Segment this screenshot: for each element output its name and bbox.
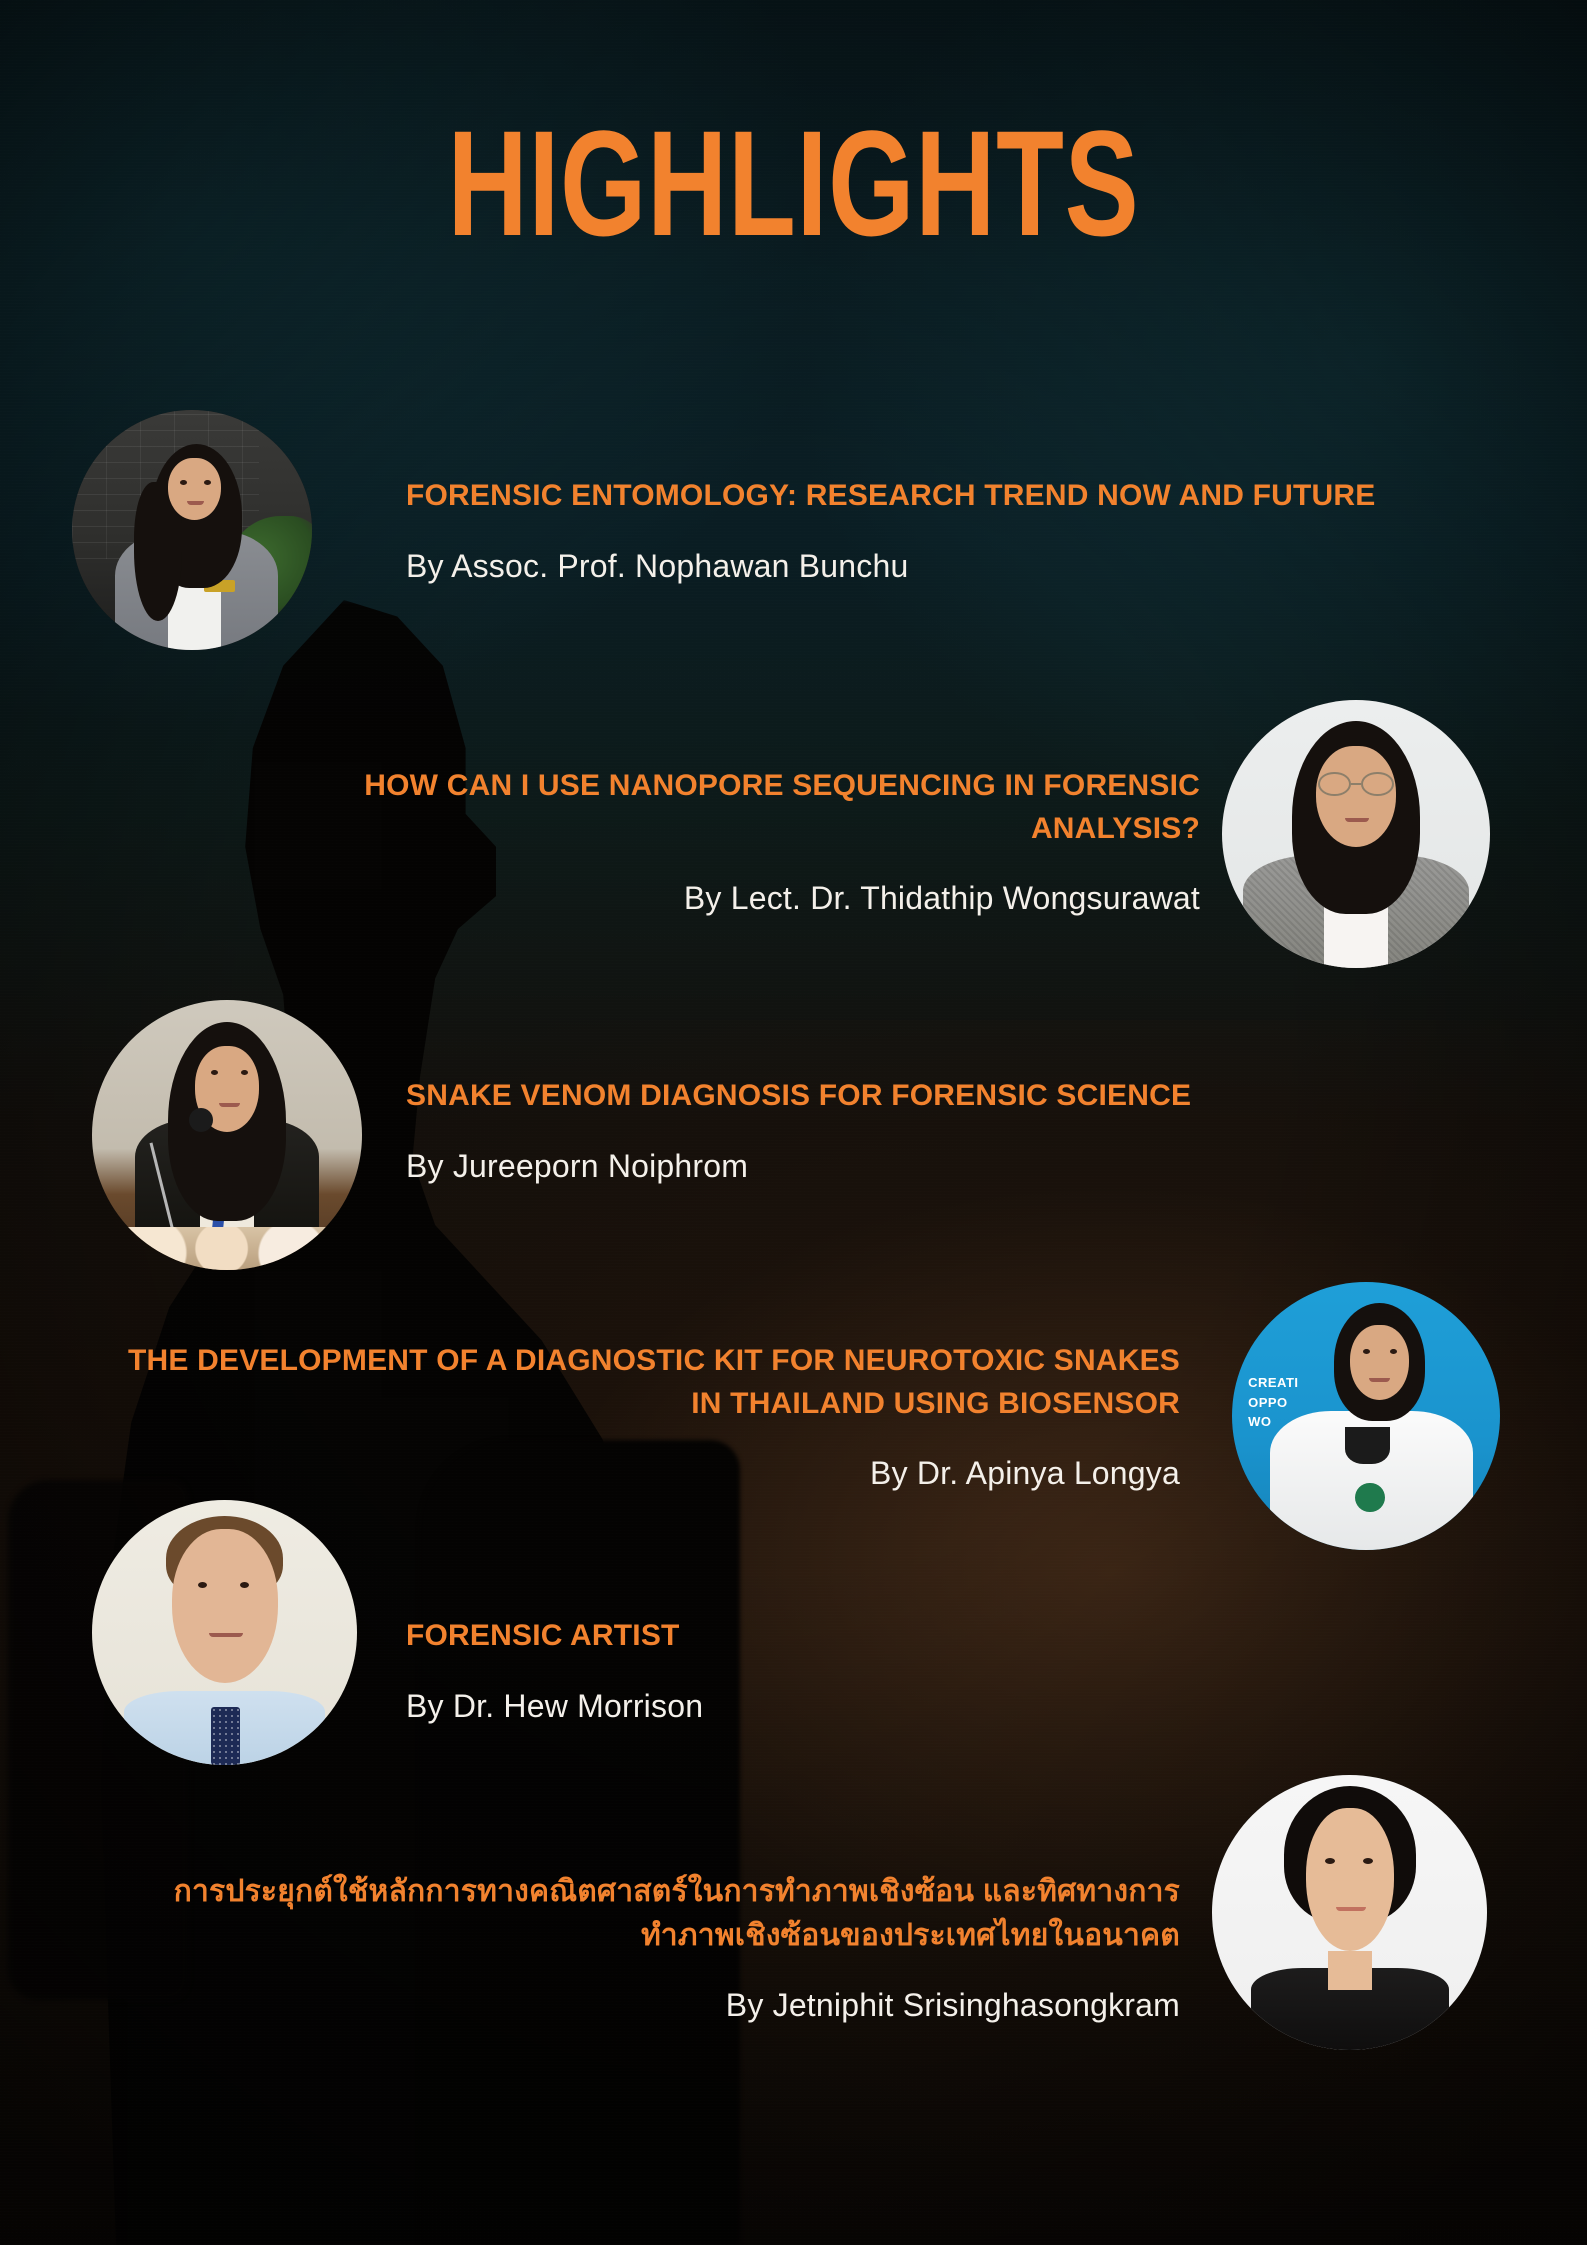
glasses-icon xyxy=(1318,772,1350,796)
entry-5-author: By Dr. Hew Morrison xyxy=(406,1684,1026,1729)
highlight-entry-6: การประยุกต์ใช้หลักการทางคณิตศาสตร์ในการท… xyxy=(170,1870,1180,2028)
entry-5-title: FORENSIC ARTIST xyxy=(406,1615,1026,1658)
page-title: HIGHLIGHTS xyxy=(206,108,1380,258)
highlights-poster: HIGHLIGHTS FORENSIC ENTOMOLOGY: RESEARCH… xyxy=(0,0,1587,2245)
necktie xyxy=(211,1707,240,1765)
portrait-nophawan-bunchu xyxy=(72,410,312,650)
highlight-entry-1: FORENSIC ENTOMOLOGY: RESEARCH TREND NOW … xyxy=(406,475,1416,588)
portrait-apinya-longya: CREATI OPPO WO xyxy=(1232,1282,1500,1550)
highlight-entry-5: FORENSIC ARTIST By Dr. Hew Morrison xyxy=(406,1615,1026,1728)
entry-2-author: By Lect. Dr. Thidathip Wongsurawat xyxy=(300,876,1200,921)
portrait-jureeporn-noiphrom xyxy=(92,1000,362,1270)
entry-1-author: By Assoc. Prof. Nophawan Bunchu xyxy=(406,544,1416,589)
highlight-entry-2: HOW CAN I USE NANOPORE SEQUENCING IN FOR… xyxy=(300,765,1200,921)
portrait-hew-morrison xyxy=(92,1500,357,1765)
entry-6-title: การประยุกต์ใช้หลักการทางคณิตศาสตร์ในการท… xyxy=(170,1870,1180,1957)
entry-2-title: HOW CAN I USE NANOPORE SEQUENCING IN FOR… xyxy=(300,765,1200,850)
entry-4-author: By Dr. Apinya Longya xyxy=(110,1451,1180,1496)
highlight-entry-3: SNAKE VENOM DIAGNOSIS FOR FORENSIC SCIEN… xyxy=(406,1075,1416,1188)
entry-3-title: SNAKE VENOM DIAGNOSIS FOR FORENSIC SCIEN… xyxy=(406,1075,1416,1118)
entry-4-title: THE DEVELOPMENT OF A DIAGNOSTIC KIT FOR … xyxy=(110,1340,1180,1425)
entry-3-author: By Jureeporn Noiphrom xyxy=(406,1144,1416,1189)
entry-6-author: By Jetniphit Srisinghasongkram xyxy=(170,1983,1180,2028)
portrait-thidathip-wongsurawat xyxy=(1222,700,1490,968)
portrait-jetniphit-srisinghasongkram xyxy=(1212,1775,1487,2050)
entry-1-title: FORENSIC ENTOMOLOGY: RESEARCH TREND NOW … xyxy=(406,475,1416,518)
highlight-entry-4: THE DEVELOPMENT OF A DIAGNOSTIC KIT FOR … xyxy=(110,1340,1180,1496)
